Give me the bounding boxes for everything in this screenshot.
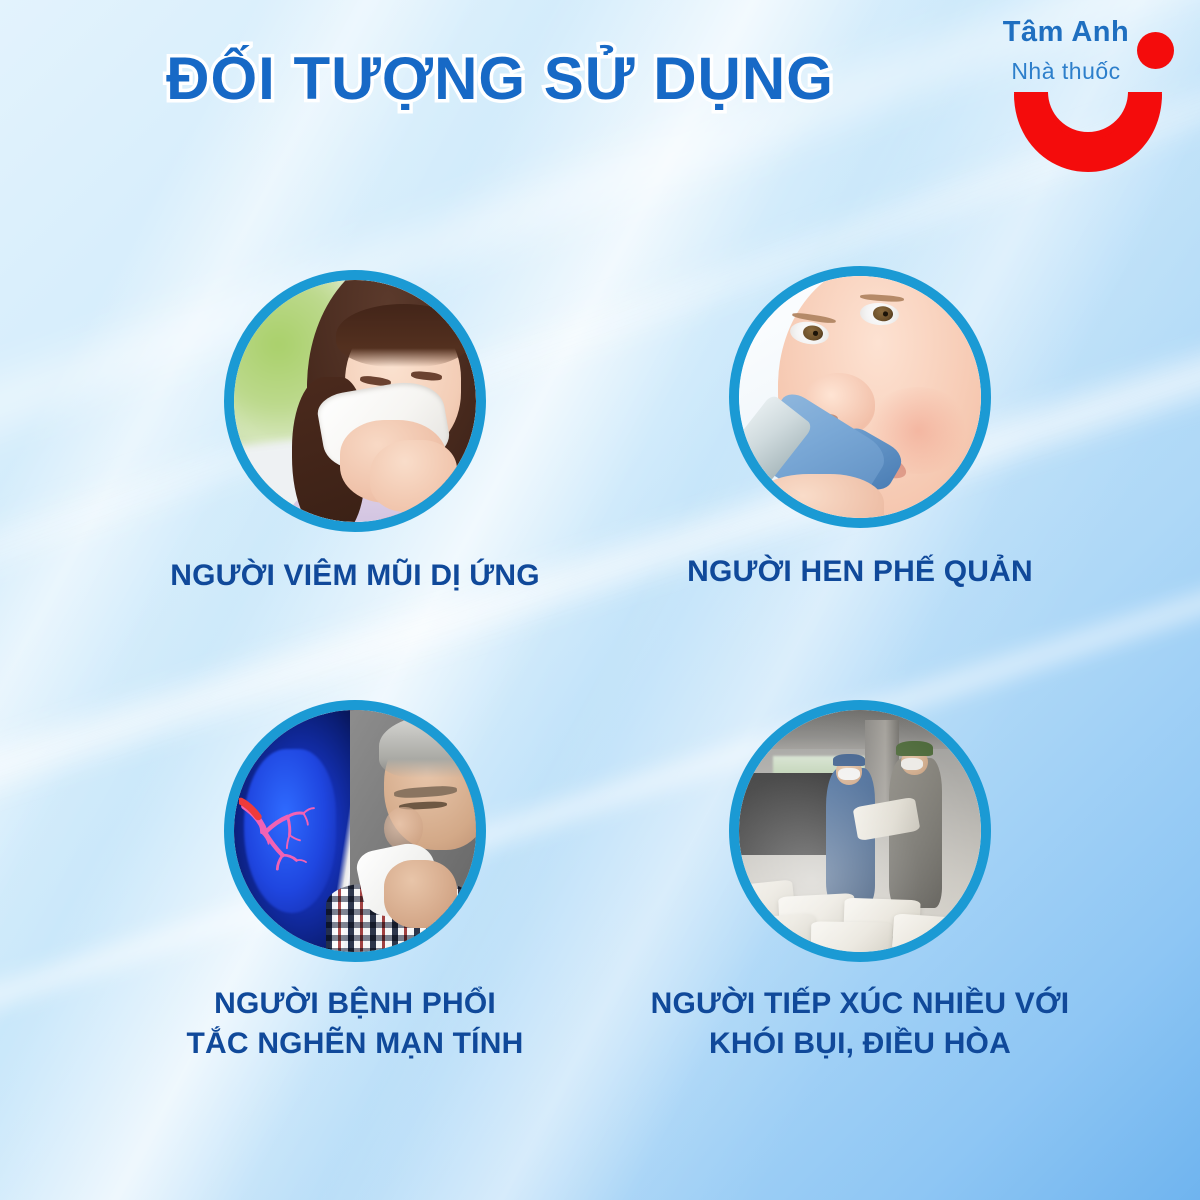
item-caption: NGƯỜI TIẾP XÚC NHIỀU VỚI KHÓI BỤI, ĐIỀU … bbox=[650, 984, 1070, 1063]
red-dot-icon bbox=[1137, 32, 1174, 69]
iris bbox=[802, 325, 824, 342]
pupil bbox=[813, 331, 818, 336]
caption-line-2: KHÓI BỤI, ĐIỀU HÒA bbox=[650, 1024, 1070, 1064]
caption-line-1: NGƯỜI BỆNH PHỔI bbox=[145, 984, 565, 1024]
item-benh-phoi-tac-nghen: NGƯỜI BỆNH PHỔI TẮC NGHẼN MẠN TÍNH bbox=[145, 700, 565, 1063]
item-caption: NGƯỜI BỆNH PHỔI TẮC NGHẼN MẠN TÍNH bbox=[145, 984, 565, 1063]
infographic-canvas: ĐỐI TƯỢNG SỬ DỤNG Tâm Anh Nhà thuốc bbox=[0, 0, 1200, 1200]
photo-circle bbox=[729, 266, 991, 528]
hand-second bbox=[370, 440, 457, 513]
item-caption: NGƯỜI VIÊM MŨI DỊ ỨNG bbox=[145, 556, 565, 596]
photo-circle bbox=[729, 700, 991, 962]
hand bbox=[749, 474, 885, 518]
caption-line-1: NGƯỜI TIẾP XÚC NHIỀU VỚI bbox=[650, 984, 1070, 1024]
photo-circle bbox=[224, 270, 486, 532]
item-viem-mui-di-ung: NGƯỜI VIÊM MŨI DỊ ỨNG bbox=[145, 270, 565, 596]
logo-sub-name: Nhà thuốc bbox=[1000, 58, 1132, 85]
photo-circle bbox=[224, 700, 486, 962]
bronchial-tree-icon bbox=[239, 763, 326, 899]
pupil bbox=[883, 311, 888, 316]
child-using-inhaler-photo bbox=[739, 276, 981, 518]
caption-line-1: NGƯỜI HEN PHẾ QUẢN bbox=[650, 552, 1070, 592]
item-tiep-xuc-khoi-bui: NGƯỜI TIẾP XÚC NHIỀU VỚI KHÓI BỤI, ĐIỀU … bbox=[650, 700, 1070, 1063]
item-caption: NGƯỜI HEN PHẾ QUẢN bbox=[650, 552, 1070, 592]
caption-line-2: TẮC NGHẼN MẠN TÍNH bbox=[145, 1024, 565, 1064]
fist-over-mouth bbox=[384, 860, 457, 928]
lung-and-coughing-elderly-man-photo bbox=[234, 710, 476, 952]
logo-brand-name: Tâm Anh bbox=[1000, 16, 1132, 49]
gray-hair bbox=[379, 715, 476, 778]
dusty-cement-workers-photo bbox=[739, 710, 981, 952]
item-hen-phe-quan: NGƯỜI HEN PHẾ QUẢN bbox=[650, 266, 1070, 592]
brand-logo: Tâm Anh Nhà thuốc bbox=[1000, 16, 1178, 176]
page-title: ĐỐI TƯỢNG SỬ DỤNG bbox=[0, 44, 1000, 113]
iris bbox=[873, 306, 894, 322]
fringe bbox=[336, 304, 472, 367]
caption-line-1: NGƯỜI VIÊM MŨI DỊ ỨNG bbox=[145, 556, 565, 596]
red-smile-arc-icon bbox=[1008, 92, 1168, 176]
dust-haze bbox=[739, 710, 981, 952]
girl-blowing-nose-photo bbox=[234, 280, 476, 522]
